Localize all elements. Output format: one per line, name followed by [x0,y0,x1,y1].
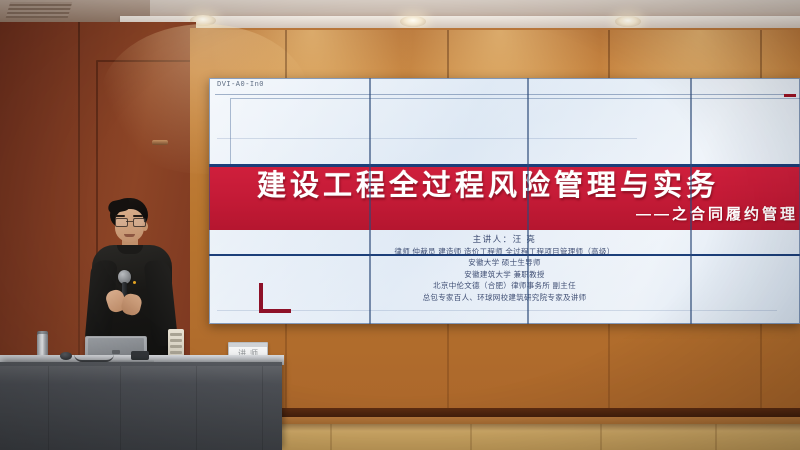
slide-subtitle: ——之合同履约管理 [636,203,798,224]
sign-cap [229,343,267,347]
desk-item [131,351,149,360]
ceiling-vent-icon [6,2,73,18]
table-cloth-fold [120,366,121,450]
presenter-brow [133,215,143,217]
floor-plank-seam [600,424,602,450]
keypad-key-row [170,333,182,336]
keypad-key-row [170,339,182,342]
credit-line: 主讲人：汪 亮 [209,234,800,246]
credit-line: 总包专家百人、环球网校建筑研究院专家及讲师 [209,292,800,304]
presenter-mouth [124,234,135,237]
panel-bezel-seam [690,78,692,324]
credit-line: 安徽大学 硕士生导师 [209,257,800,269]
slide-corner-accent [259,283,291,313]
floor-plank-seam [715,424,717,450]
table-cloth-highlight [0,366,282,384]
credit-line: 北京中伦文德（合肥）律师事务所 副主任 [209,280,800,292]
glasses-icon [115,218,144,225]
presenter-credits: 主讲人：汪 亮 律师 仲裁员 建造师 造价工程师 全过程工程项目管理师（高级） … [209,234,800,303]
credit-line: 安徽建筑大学 兼职教授 [209,269,800,281]
slide-faint-line [217,310,777,311]
downlight-icon [615,16,641,27]
keypad-key-row [170,351,182,354]
microphone-led [133,281,136,284]
credit-line: 律师 仲裁员 建造师 造价工程师 全过程工程项目管理师（高级） [209,246,800,258]
table-cloth-fold [48,366,49,450]
laptop-logo [112,350,120,354]
presenter-brow [115,215,125,217]
door-handle [152,140,168,145]
video-input-label: DVI-A0-In0 [217,81,264,89]
slide-faint-line [217,138,637,139]
glasses-bridge [126,221,133,222]
glasses-lens [115,218,128,227]
floor-plank-seam [470,424,472,450]
cable-puck [60,352,72,360]
ceiling-molding [120,16,800,28]
conference-room-scene: DVI-A0-In0 建设工程全过程风险管理与实务 ——之合同履约管理 主讲人：… [0,0,800,450]
video-wall-display[interactable]: DVI-A0-In0 建设工程全过程风险管理与实务 ——之合同履约管理 主讲人：… [209,78,800,324]
keypad-key-row [170,345,182,348]
glasses-lens [133,218,146,227]
floor-plank-seam [330,424,332,450]
red-marker [784,94,796,97]
panel-bezel-seam [369,78,371,324]
panel-bezel-seam [527,78,529,324]
downlight-icon [400,16,426,27]
osd-rule [215,94,793,95]
table-cloth-fold [262,366,263,450]
desk-cable [74,354,114,362]
table-cloth-fold [196,366,197,450]
